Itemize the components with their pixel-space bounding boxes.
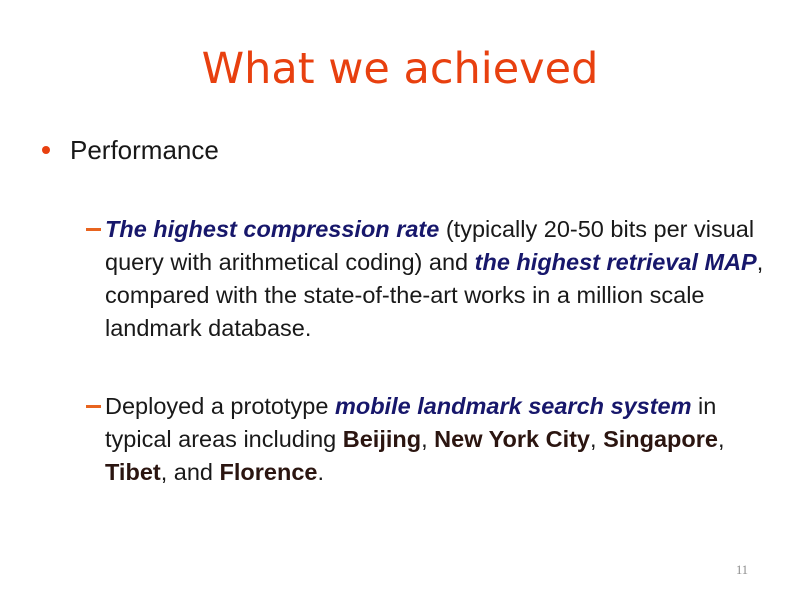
page-number: 11 — [736, 563, 748, 577]
text-run: Beijing — [343, 426, 421, 452]
text-run: Singapore — [603, 426, 718, 452]
bullet-level2-text: Deployed a prototype mobile landmark sea… — [105, 393, 725, 485]
slide-canvas: What we achieved Performance The highest… — [0, 0, 800, 599]
bullet-level1-label: Performance — [70, 135, 219, 165]
text-run: , — [718, 426, 725, 452]
text-run: the highest retrieval MAP — [475, 249, 757, 275]
slide-body: Performance The highest compression rate… — [0, 133, 800, 489]
text-run: , — [421, 426, 434, 452]
bullet-level2-group: The highest compression rate (typically … — [0, 213, 800, 489]
page-title: What we achieved — [0, 44, 800, 94]
bullet-level2-item: Deployed a prototype mobile landmark sea… — [0, 390, 800, 489]
text-run: , and — [161, 459, 220, 485]
text-run: The highest compression rate — [105, 216, 439, 242]
bullet-level2-item: The highest compression rate (typically … — [0, 213, 800, 345]
text-run: Tibet — [105, 459, 161, 485]
text-run: Florence — [220, 459, 318, 485]
text-run: New York City — [434, 426, 590, 452]
dash-marker-icon — [86, 405, 101, 408]
bullet-dot-icon — [42, 146, 50, 154]
bullet-level1: Performance — [0, 133, 800, 167]
text-run: . — [317, 459, 324, 485]
bullet-level2-text: The highest compression rate (typically … — [105, 216, 763, 341]
dash-marker-icon — [86, 228, 101, 231]
text-run: mobile landmark search system — [335, 393, 692, 419]
text-run: Deployed a prototype — [105, 393, 335, 419]
text-run: , — [590, 426, 603, 452]
